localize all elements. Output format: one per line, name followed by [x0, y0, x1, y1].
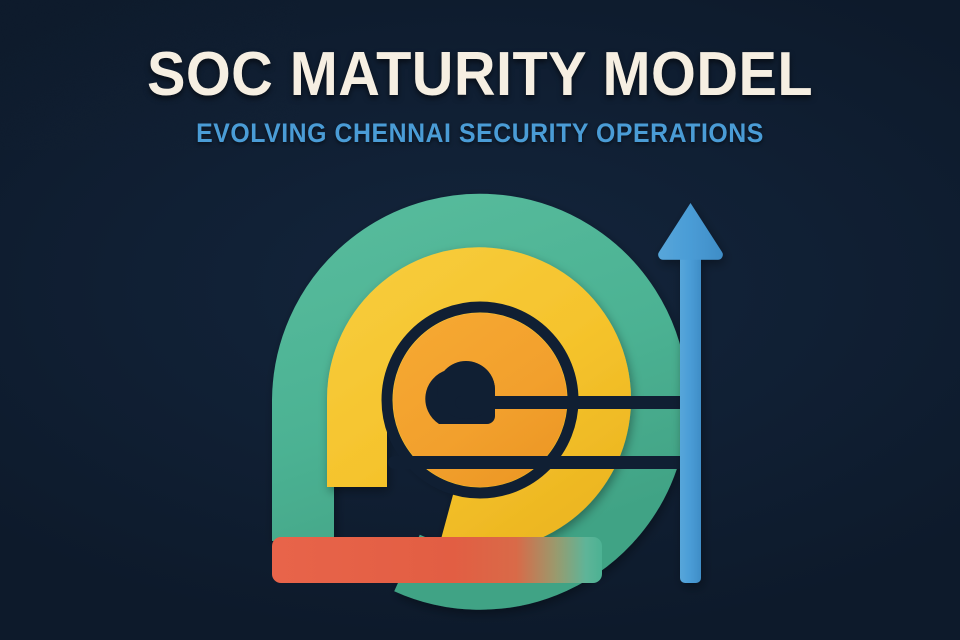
poster-canvas: SOC MATURITY MODEL EVOLVING CHENNAI SECU…	[0, 0, 960, 640]
title-block: SOC MATURITY MODEL EVOLVING CHENNAI SECU…	[0, 0, 960, 147]
page-subtitle: EVOLVING CHENNAI SECURITY OPERATIONS	[38, 106, 921, 147]
page-title: SOC MATURITY MODEL	[34, 0, 927, 106]
baseline-bar	[272, 537, 602, 583]
